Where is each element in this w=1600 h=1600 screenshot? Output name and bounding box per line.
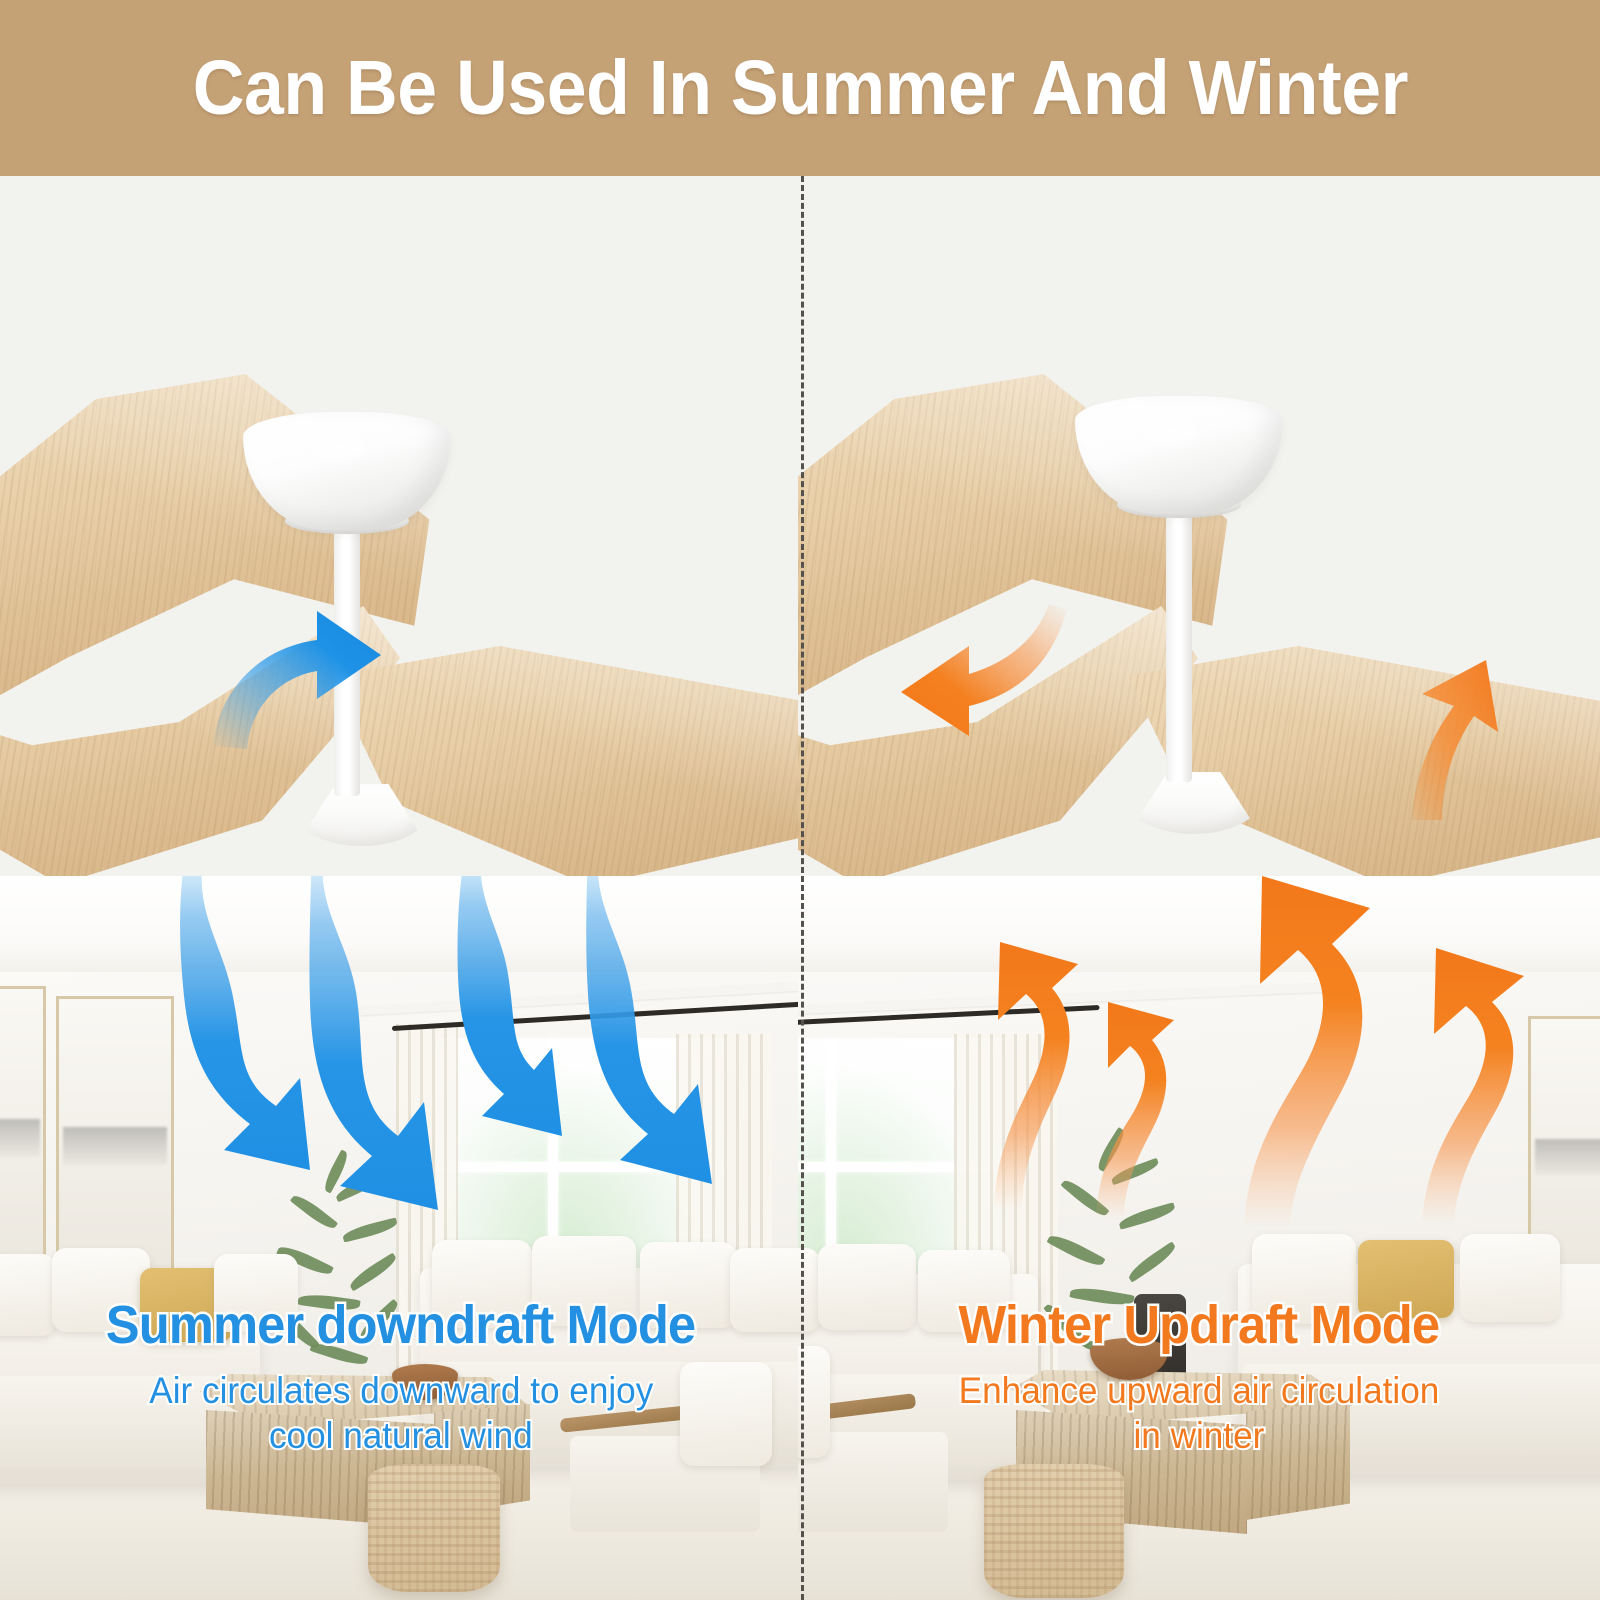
header-banner: Can Be Used In Summer And Winter	[0, 0, 1600, 176]
comparison-panels: Summer downdraft Mode Air circulates dow…	[0, 176, 1600, 1600]
summer-panel: Summer downdraft Mode Air circulates dow…	[0, 176, 802, 1600]
summer-fan-scene	[0, 176, 802, 936]
panel-divider	[801, 176, 804, 1600]
winter-fan-scene	[798, 176, 1600, 936]
woven-pouf	[368, 1464, 500, 1592]
armchair-pillow	[680, 1362, 772, 1466]
winter-blade-airflow-arrow-icon	[1358, 654, 1538, 824]
fan-downrod	[1166, 512, 1192, 782]
summer-rotation-arrow-icon	[205, 591, 435, 761]
page-title: Can Be Used In Summer And Winter	[192, 44, 1407, 133]
winter-updraft-arrows	[798, 876, 1600, 1366]
summer-room-scene	[0, 876, 802, 1600]
winter-rotation-arrow-icon	[823, 588, 1073, 758]
winter-room-scene	[798, 876, 1600, 1600]
summer-downdraft-arrows	[0, 876, 802, 1366]
infographic-stage: Can Be Used In Summer And Winter	[0, 0, 1600, 1600]
coffee-table-side	[1246, 1402, 1350, 1520]
winter-panel: Winter Updraft Mode Enhance upward air c…	[798, 176, 1600, 1600]
woven-pouf	[984, 1464, 1124, 1598]
